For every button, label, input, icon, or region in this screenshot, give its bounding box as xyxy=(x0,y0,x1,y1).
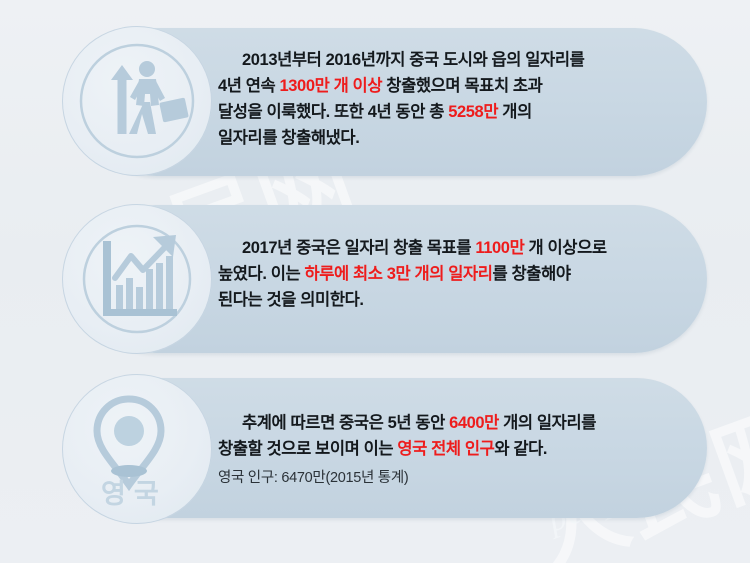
highlighted-figure: 1300만 개 이상 xyxy=(280,77,383,95)
panel-3-text: 추계에 따르면 중국은 5년 동안 6400만 개의 일자리를창출할 것으로 보… xyxy=(218,410,688,491)
body-text: 창출했으며 목표치 초과 xyxy=(382,77,542,95)
highlighted-figure: 하루에 최소 3만 개의 일자리 xyxy=(304,265,492,283)
svg-text:영국: 영국 xyxy=(101,479,167,509)
highlighted-figure: 6400만 xyxy=(449,414,499,432)
body-text: 된다는 것을 의미한다. xyxy=(218,291,364,309)
panel-subnote: 영국 인구: 6470만(2015년 통계) xyxy=(218,465,688,491)
body-text: 달성을 이룩했다. 또한 4년 동안 총 xyxy=(218,103,448,121)
bar-chart-growth-arrow-icon xyxy=(62,204,212,354)
body-text: 높였다. 이는 xyxy=(218,265,304,283)
body-text: 와 같다. xyxy=(494,440,547,458)
walking-businessman-up-arrow-icon xyxy=(62,26,212,176)
map-pin-uk-icon: 영국 xyxy=(62,374,212,524)
body-text: 를 창출해야 xyxy=(493,265,571,283)
body-text: 개 이상으로 xyxy=(524,239,606,257)
body-text: 2013년부터 2016년까지 중국 도시와 읍의 일자리를 xyxy=(242,51,584,69)
body-text: 창출할 것으로 보이며 이는 xyxy=(218,440,397,458)
body-text: 추계에 따르면 중국은 5년 동안 xyxy=(242,414,449,432)
highlighted-figure: 1100만 xyxy=(475,239,524,257)
panel-2-text: 2017년 중국은 일자리 창출 목표를 1100만 개 이상으로높였다. 이는… xyxy=(218,235,688,313)
body-text: 2017년 중국은 일자리 창출 목표를 xyxy=(242,239,475,257)
body-text: 일자리를 창출해냈다. xyxy=(218,129,359,147)
infographic-canvas: 人民网 people.cn 人民网 people.cn 2013년부터 2016… xyxy=(0,0,750,563)
highlighted-figure: 5258만 xyxy=(448,103,498,121)
panel-1-text: 2013년부터 2016년까지 중국 도시와 읍의 일자리를4년 연속 1300… xyxy=(218,47,688,151)
body-text: 개의 일자리를 xyxy=(499,414,596,432)
body-text: 개의 xyxy=(498,103,532,121)
highlighted-figure: 영국 전체 인구 xyxy=(397,440,494,458)
body-text: 4년 연속 xyxy=(218,77,280,95)
